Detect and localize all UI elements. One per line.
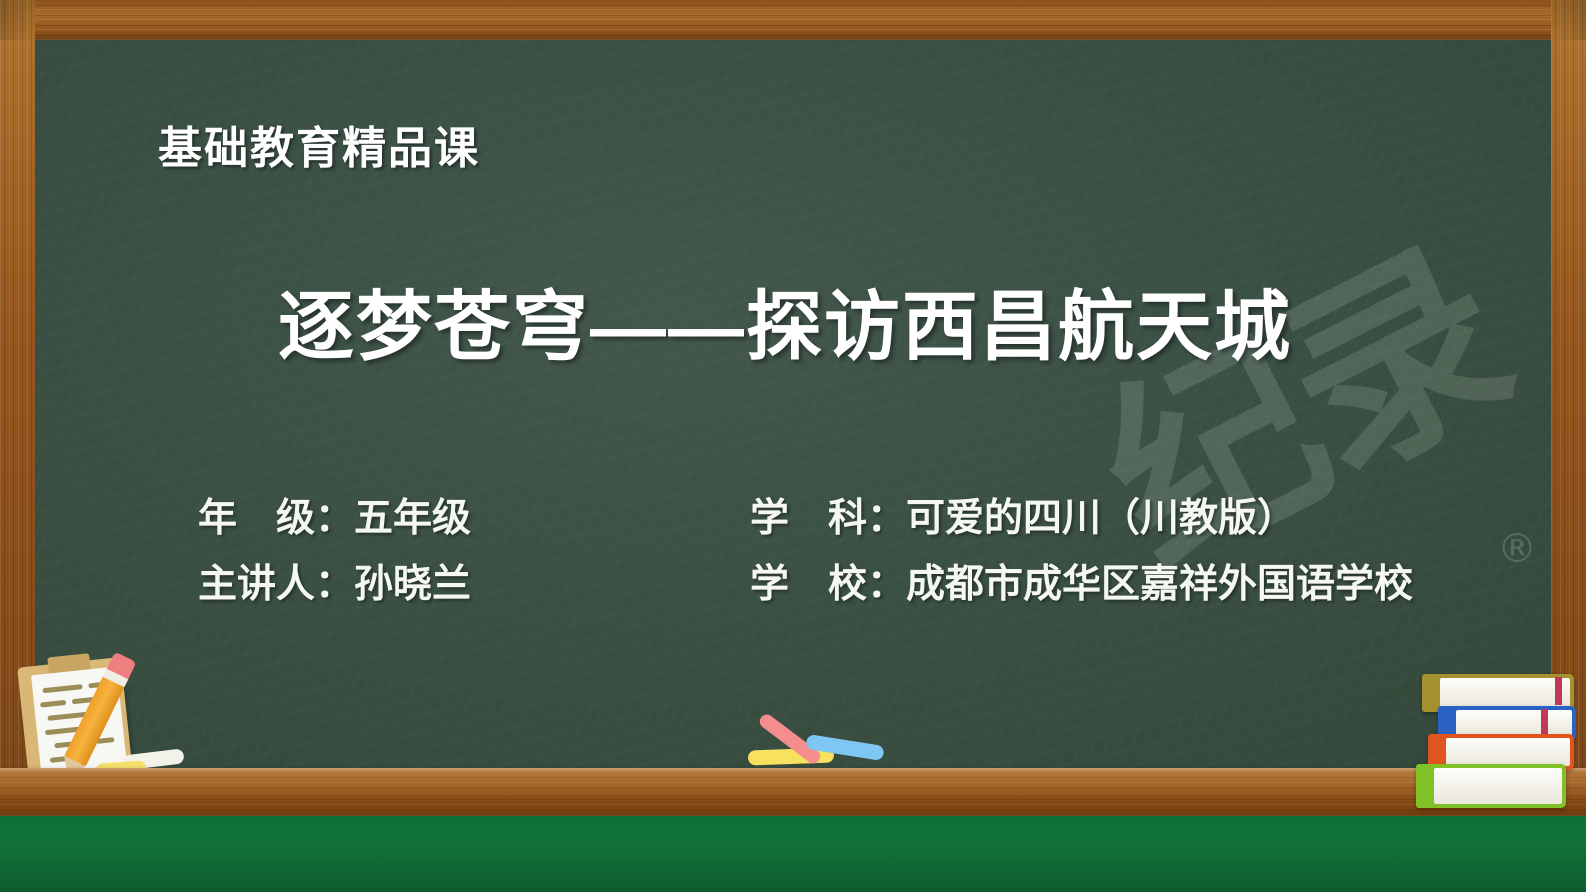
wall-background-bottom (0, 816, 1586, 892)
info-value-presenter: 孙晓兰 (354, 551, 471, 617)
bookmark-icon (1541, 709, 1548, 737)
info-value-subject: 可爱的四川（川教版） (906, 485, 1296, 551)
chalk-pieces-decoration (736, 730, 886, 772)
info-row-presenter: 主讲人：孙晓兰 (198, 551, 471, 617)
book-green-icon (1416, 764, 1566, 808)
book-pages (1456, 710, 1572, 736)
book-stack-decoration (1412, 650, 1584, 816)
info-label-subject: 学 科： (750, 485, 906, 551)
blackboard-frame-top (0, 0, 1586, 40)
info-column-left: 年 级：五年级 主讲人：孙晓兰 (198, 485, 471, 617)
info-column-right: 学 科：可爱的四川（川教版） 学 校：成都市成华区嘉祥外国语学校 (750, 485, 1413, 617)
info-row-subject: 学 科：可爱的四川（川教版） (750, 485, 1413, 551)
info-row-school: 学 校：成都市成华区嘉祥外国语学校 (750, 551, 1413, 617)
registered-trademark-icon: ® (1497, 526, 1537, 572)
info-value-school: 成都市成华区嘉祥外国语学校 (906, 551, 1413, 617)
book-pages (1446, 738, 1570, 766)
info-label-grade: 年 级： (198, 485, 354, 551)
chalk-ledge (0, 768, 1586, 816)
program-label: 基础教育精品课 (158, 112, 480, 176)
info-label-presenter: 主讲人： (198, 551, 354, 617)
page-title: 逐梦苍穹——探访西昌航天城 (0, 265, 1578, 375)
book-pages (1440, 678, 1570, 708)
lesson-title-slide: 纪录 ® 基础教育精品课 逐梦苍穹——探访西昌航天城 年 级：五年级 主讲人：孙… (0, 0, 1586, 892)
info-label-school: 学 校： (750, 551, 906, 617)
info-value-grade: 五年级 (354, 485, 471, 551)
info-row-grade: 年 级：五年级 (198, 485, 471, 551)
book-pages (1434, 768, 1562, 804)
bookmark-icon (1555, 677, 1562, 705)
